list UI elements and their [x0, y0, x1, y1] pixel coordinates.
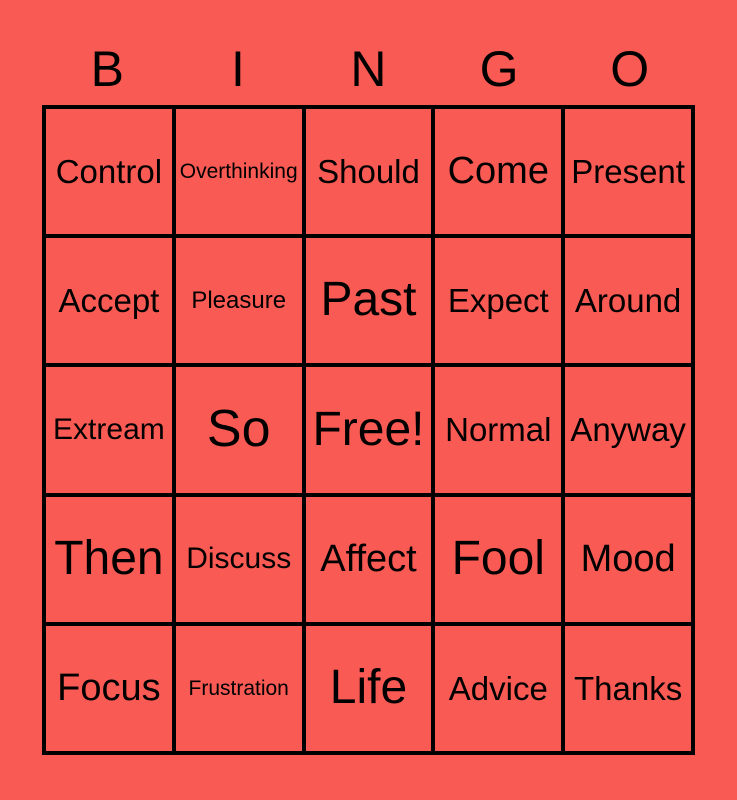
bingo-cell[interactable]: Past [306, 238, 436, 367]
bingo-cell-label: Accept [58, 284, 159, 318]
bingo-cell[interactable]: Pleasure [176, 238, 306, 367]
bingo-cell-label: Focus [57, 669, 160, 708]
bingo-cell[interactable]: Then [46, 497, 176, 626]
bingo-header: B I N G O [42, 38, 695, 100]
header-letter-n: N [303, 38, 434, 100]
bingo-cell-label: Advice [449, 672, 548, 706]
bingo-cell[interactable]: Frustration [176, 626, 306, 755]
bingo-cell-label: Normal [445, 413, 551, 447]
bingo-cell[interactable]: Thanks [565, 626, 695, 755]
bingo-cell-label: So [207, 403, 271, 456]
header-letter-b: B [42, 38, 173, 100]
bingo-cell-label: Control [56, 155, 162, 189]
bingo-cell-label: Life [330, 664, 407, 713]
bingo-cell-label: Discuss [186, 544, 291, 575]
bingo-cell[interactable]: Around [565, 238, 695, 367]
bingo-cell[interactable]: Life [306, 626, 436, 755]
bingo-cell-label: Thanks [574, 672, 682, 706]
bingo-cell[interactable]: Normal [435, 367, 565, 496]
bingo-cell[interactable]: Present [565, 109, 695, 238]
bingo-cell[interactable]: Extream [46, 367, 176, 496]
bingo-cell[interactable]: Fool [435, 497, 565, 626]
bingo-cell-label: Overthinking [180, 161, 298, 182]
bingo-cell-label: Expect [448, 284, 549, 318]
bingo-cell-label: Pleasure [191, 289, 286, 313]
bingo-cell-free[interactable]: Free! [306, 367, 436, 496]
bingo-cell[interactable]: Accept [46, 238, 176, 367]
header-letter-o: O [564, 38, 695, 100]
bingo-cell[interactable]: Should [306, 109, 436, 238]
bingo-cell-label: Frustration [189, 678, 289, 699]
header-letter-i: I [173, 38, 304, 100]
bingo-cell[interactable]: Mood [565, 497, 695, 626]
bingo-cell-label: Fool [452, 535, 545, 584]
bingo-cell[interactable]: Affect [306, 497, 436, 626]
bingo-cell[interactable]: Focus [46, 626, 176, 755]
bingo-cell[interactable]: Expect [435, 238, 565, 367]
bingo-cell-label: Anyway [570, 413, 686, 447]
bingo-cell-label: Come [448, 152, 549, 191]
bingo-cell[interactable]: Control [46, 109, 176, 238]
bingo-cell-label: Extream [53, 415, 165, 446]
bingo-cell-label: Free! [312, 406, 424, 455]
bingo-card: B I N G O Control Overthinking Should Co… [0, 0, 737, 800]
bingo-cell[interactable]: Anyway [565, 367, 695, 496]
bingo-cell-label: Mood [581, 540, 676, 579]
header-letter-g: G [434, 38, 565, 100]
bingo-cell[interactable]: So [176, 367, 306, 496]
bingo-cell-label: Present [571, 155, 685, 189]
bingo-grid: Control Overthinking Should Come Present… [42, 105, 695, 755]
bingo-cell-label: Past [320, 276, 416, 325]
bingo-cell[interactable]: Advice [435, 626, 565, 755]
bingo-cell-label: Should [317, 155, 420, 189]
bingo-cell[interactable]: Overthinking [176, 109, 306, 238]
bingo-cell[interactable]: Come [435, 109, 565, 238]
bingo-cell-label: Then [54, 535, 163, 584]
bingo-cell-label: Around [575, 284, 681, 318]
bingo-cell[interactable]: Discuss [176, 497, 306, 626]
bingo-cell-label: Affect [320, 540, 416, 579]
